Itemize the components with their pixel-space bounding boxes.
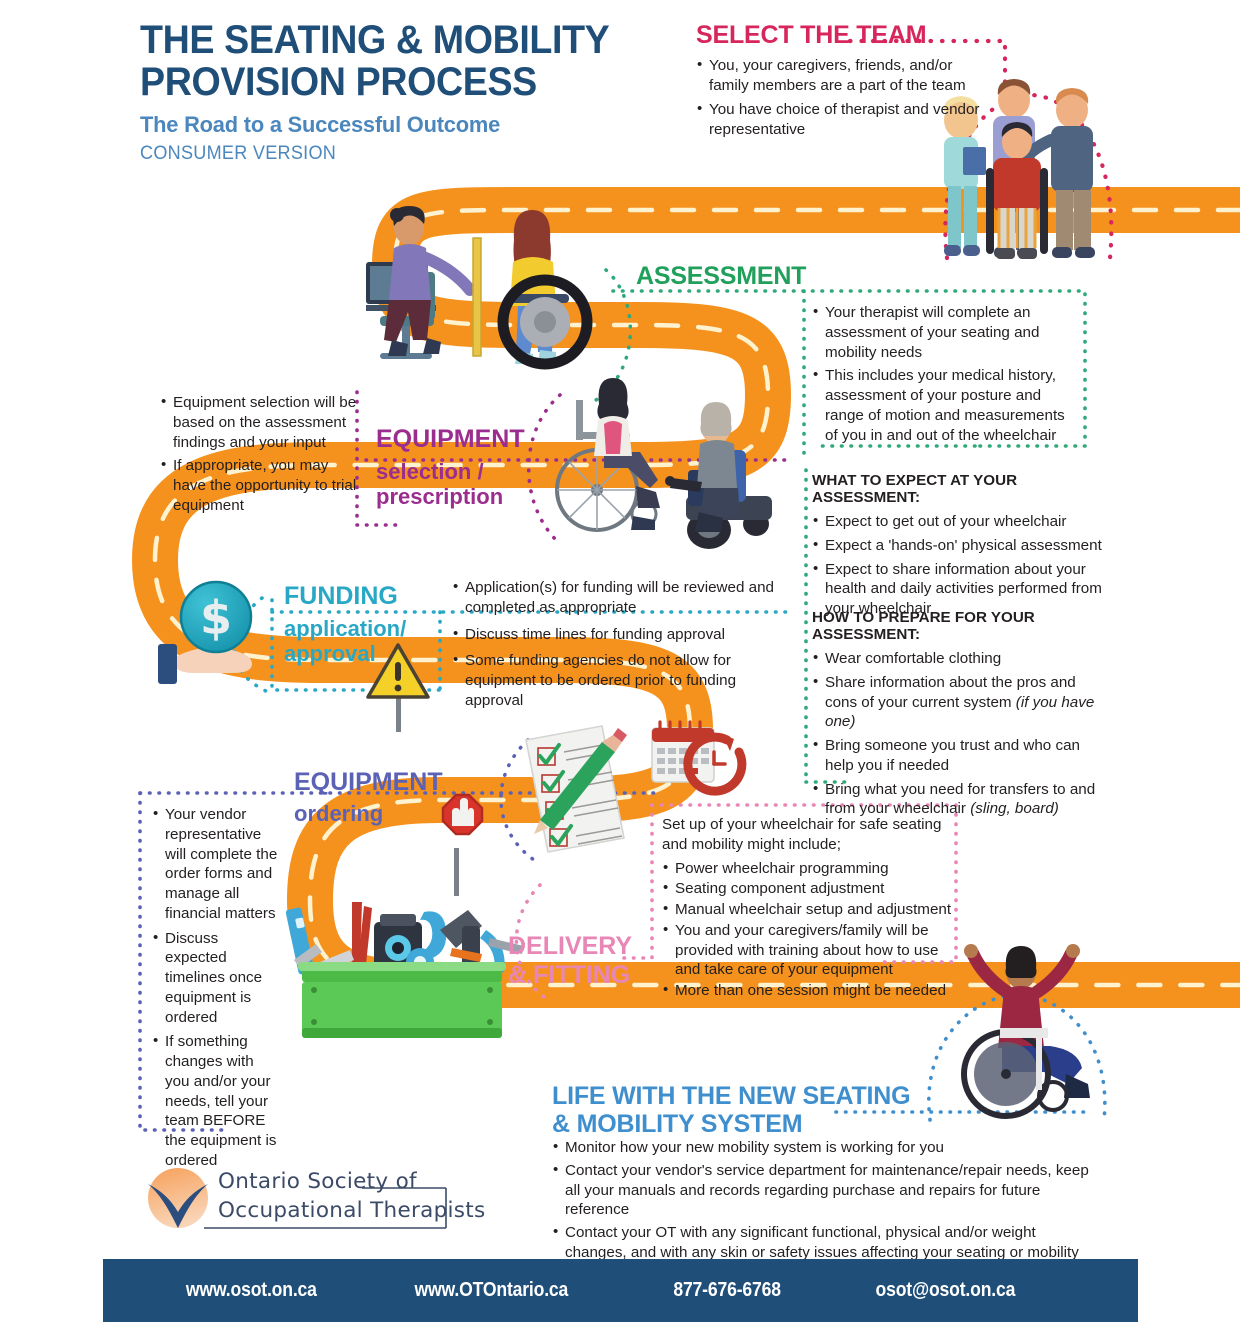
equipment-selection-illustration xyxy=(557,378,772,549)
how-to-prepare-heading: HOW TO PREPARE FOR YOUR ASSESSMENT: xyxy=(812,609,1112,643)
footer-website-otontario[interactable]: www.OTOntario.ca xyxy=(414,1279,568,1302)
list-item: Expect to get out of your wheelchair xyxy=(812,512,1112,532)
section-equipment-ordering: EQUIPMENT ordering xyxy=(294,768,443,827)
section-life-with-new-system: LIFE WITH THE NEW SEATING & MOBILITY SYS… xyxy=(552,1082,910,1138)
list-item: Share information about the pros and con… xyxy=(812,673,1112,732)
assessment-heading: ASSESSMENT xyxy=(636,263,806,289)
list-item: Contact your OT with any significant fun… xyxy=(552,1223,1097,1263)
footer-bar: www.osot.on.ca www.OTOntario.ca 877-676-… xyxy=(103,1259,1138,1322)
section-delivery-fitting: DELIVERY & FITTING xyxy=(508,932,632,990)
footer-phone[interactable]: 877-676-6768 xyxy=(674,1279,781,1302)
footer-email[interactable]: osot@osot.on.ca xyxy=(876,1279,1016,1302)
section-funding: FUNDING application/approval xyxy=(284,582,406,666)
list-item: Bring what you need for transfers to and… xyxy=(812,780,1112,820)
osot-logo: Ontario Society of Occupational Therapis… xyxy=(140,1162,490,1238)
list-item: Wear comfortable clothing xyxy=(812,649,1112,669)
equipment-selection-bullets: Equipment selection will be based on the… xyxy=(160,393,358,520)
page-title-line2: PROVISION PROCESS xyxy=(140,62,629,104)
equipment-selection-heading-line1: EQUIPMENT xyxy=(376,425,525,454)
page-version-label: CONSUMER VERSION xyxy=(140,143,634,165)
how-to-prepare-block: HOW TO PREPARE FOR YOUR ASSESSMENT: Wear… xyxy=(812,609,1112,823)
list-item: You and your caregivers/family will be p… xyxy=(662,921,962,980)
page-subtitle: The Road to a Successful Outcome xyxy=(140,112,644,138)
section-select-the-team: SELECT THE TEAM You, your caregivers, fr… xyxy=(696,22,996,143)
delivery-heading-line1: DELIVERY xyxy=(508,932,632,961)
page-title-block: THE SEATING & MOBILITY PROVISION PROCESS… xyxy=(140,20,660,165)
equipment-ordering-list: Your vendor representative will complete… xyxy=(152,805,278,1171)
list-item: Some funding agencies do not allow for e… xyxy=(452,651,792,710)
equipment-ordering-heading-line2: ordering xyxy=(294,801,443,827)
life-bullet-list: Monitor how your new mobility system is … xyxy=(552,1138,1097,1263)
funding-heading-line1: FUNDING xyxy=(284,582,406,611)
list-item: Contact your vendor's service department… xyxy=(552,1161,1097,1220)
what-to-expect-heading: WHAT TO EXPECT AT YOUR ASSESSMENT: xyxy=(812,472,1112,506)
funding-illustration: $ xyxy=(158,582,252,684)
infographic-page: $ xyxy=(0,0,1240,1322)
list-item: Expect a 'hands-on' physical assessment xyxy=(812,536,1112,556)
celebration-illustration xyxy=(964,944,1090,1116)
equipment-ordering-bullets: Your vendor representative will complete… xyxy=(152,805,278,1176)
team-bullet-list: You, your caregivers, friends, and/or fa… xyxy=(696,56,996,139)
toolbox-illustration xyxy=(285,902,524,1038)
delivery-lead-text: Set up of your wheelchair for safe seati… xyxy=(662,815,962,855)
assessment-bullets: Your therapist will complete an assessme… xyxy=(812,303,1074,449)
list-item: If something changes with you and/or you… xyxy=(152,1032,278,1170)
osot-logo-text: Ontario Society of Occupational Therapis… xyxy=(218,1168,486,1225)
logo-line1: Ontario Society of xyxy=(218,1168,486,1197)
list-item: Manual wheelchair setup and adjustment xyxy=(662,900,962,920)
calendar-clock-illustration xyxy=(652,722,742,791)
list-item: Your therapist will complete an assessme… xyxy=(812,303,1074,362)
life-heading-line2: & MOBILITY SYSTEM xyxy=(552,1110,910,1138)
list-item: Power wheelchair programming xyxy=(662,859,962,879)
list-item: Seating component adjustment xyxy=(662,879,962,899)
funding-bullets: Application(s) for funding will be revie… xyxy=(452,578,792,718)
equipment-selection-list: Equipment selection will be based on the… xyxy=(160,393,358,516)
life-bullets: Monitor how your new mobility system is … xyxy=(552,1138,1097,1266)
list-item: Application(s) for funding will be revie… xyxy=(452,578,792,618)
life-heading-line1: LIFE WITH THE NEW SEATING xyxy=(552,1082,910,1110)
list-item: Discuss expected timelines once equipmen… xyxy=(152,929,278,1028)
list-item: Monitor how your new mobility system is … xyxy=(552,1138,1097,1158)
assessment-bullet-list: Your therapist will complete an assessme… xyxy=(812,303,1074,445)
stop-sign-illustration xyxy=(443,795,482,896)
list-item: If appropriate, you may have the opportu… xyxy=(160,456,358,515)
delivery-bullet-list: Power wheelchair programming Seating com… xyxy=(662,859,962,1001)
logo-line2: Occupational Therapists xyxy=(218,1197,486,1226)
list-item: Discuss time lines for funding approval xyxy=(452,625,792,645)
footer-website-osot[interactable]: www.osot.on.ca xyxy=(186,1279,317,1302)
what-to-expect-block: WHAT TO EXPECT AT YOUR ASSESSMENT: Expec… xyxy=(812,472,1112,623)
what-to-expect-list: Expect to get out of your wheelchair Exp… xyxy=(812,512,1112,619)
funding-bullet-list: Application(s) for funding will be revie… xyxy=(452,578,792,711)
how-to-prepare-list: Wear comfortable clothing Share informat… xyxy=(812,649,1112,819)
list-item: This includes your medical history, asse… xyxy=(812,366,1074,445)
list-item: Equipment selection will be based on the… xyxy=(160,393,358,452)
list-item: Bring someone you trust and who can help… xyxy=(812,736,1112,776)
list-item: You have choice of therapist and vendor … xyxy=(696,100,996,140)
svg-text:$: $ xyxy=(200,591,232,645)
checklist-illustration xyxy=(526,726,627,852)
page-title-line1: THE SEATING & MOBILITY xyxy=(140,20,629,62)
equipment-selection-heading-line2: selection /prescription xyxy=(376,460,525,509)
delivery-content: Set up of your wheelchair for safe seati… xyxy=(662,815,962,1002)
team-heading: SELECT THE TEAM xyxy=(696,22,996,48)
pencil-icon xyxy=(534,728,627,834)
funding-heading-line2: application/approval xyxy=(284,617,406,666)
equipment-ordering-heading-line1: EQUIPMENT xyxy=(294,768,443,797)
delivery-heading-line2: & FITTING xyxy=(508,961,632,990)
section-equipment-selection: EQUIPMENT selection /prescription xyxy=(376,425,525,509)
list-item: You, your caregivers, friends, and/or fa… xyxy=(696,56,996,96)
list-item: More than one session might be needed xyxy=(662,981,962,1001)
assessment-illustration xyxy=(366,206,587,364)
list-item: Your vendor representative will complete… xyxy=(152,805,278,924)
